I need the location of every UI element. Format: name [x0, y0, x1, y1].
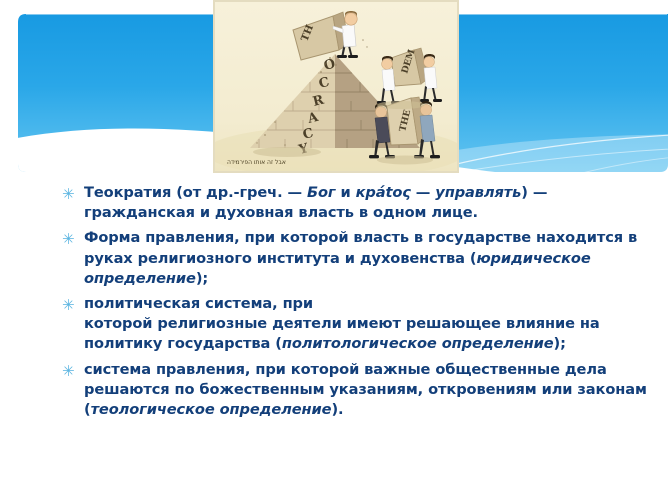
asterisk-bullet-icon: ✳ — [62, 360, 84, 381]
bullet-text-1: Форма правления, при которой власть в го… — [84, 228, 662, 289]
slide-body-text: ✳ Теократия (от др.-греч. — Бог и крátoς… — [62, 183, 662, 425]
asterisk-bullet-icon: ✳ — [62, 183, 84, 204]
bullet-legal-definition: ✳ Форма правления, при которой власть в … — [62, 228, 662, 289]
bullet-political-definition: ✳ политическая система, прикоторой религ… — [62, 294, 662, 355]
asterisk-bullet-icon: ✳ — [62, 294, 84, 315]
theocracy-pyramid-cartoon: O C R A C Y TH — [213, 0, 459, 173]
bullet-theological-definition: ✳ система правления, при которой важные … — [62, 360, 662, 421]
cartoon-caption: אבל זה אותו הפירמידה — [227, 159, 286, 166]
presentation-slide: O C R A C Y TH — [0, 0, 668, 500]
bullet-text-0: Теократия (от др.-греч. — Бог и крátoς —… — [84, 183, 662, 223]
bullet-text-3: система правления, при которой важные об… — [84, 360, 662, 421]
asterisk-bullet-icon: ✳ — [62, 228, 84, 249]
bullet-text-2: политическая система, прикоторой религио… — [84, 294, 662, 355]
bullet-theocracy-definition: ✳ Теократия (от др.-греч. — Бог и крátoς… — [62, 183, 662, 223]
